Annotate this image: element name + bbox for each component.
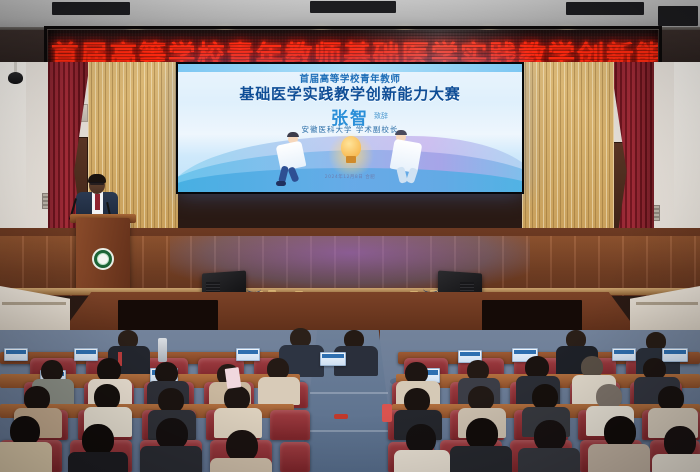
name-placard <box>236 348 260 361</box>
step-nosing <box>2 302 66 305</box>
aisle-marking <box>304 430 396 432</box>
slide-title: 基础医学实践教学创新能力大赛 <box>178 83 522 104</box>
person-body <box>68 452 128 472</box>
security-camera-icon <box>8 72 23 84</box>
name-placard <box>662 348 688 362</box>
person-body <box>258 377 300 405</box>
lightbulb-base <box>346 156 356 163</box>
person-body <box>394 450 450 472</box>
red-item <box>382 404 392 422</box>
aisle-marking <box>310 392 388 394</box>
slide-affiliation: 安徽医科大学 学术副校长 <box>178 124 522 135</box>
water-bottle <box>158 338 167 362</box>
speaker-glasses-icon <box>90 182 104 185</box>
auditorium-photo: 首届高等学校青年教师基础医学实践教学创新能力大赛 <box>0 0 700 472</box>
name-placard <box>320 352 346 366</box>
name-placard <box>4 348 28 361</box>
name-placard <box>74 348 98 361</box>
stage-cable <box>247 285 261 293</box>
apron-panel <box>118 300 218 334</box>
slide-date: 2024年12月8日 合肥 <box>178 174 522 180</box>
person-body <box>210 458 272 472</box>
slide-speaker-role: 致辞 <box>374 111 388 121</box>
red-marker <box>334 414 348 419</box>
seat[interactable] <box>270 410 310 440</box>
presentation-slide: 首届高等学校青年教师 基础医学实践教学创新能力大赛 张智 致辞 安徽医科大学 学… <box>178 64 522 192</box>
paper-sheet <box>225 367 242 389</box>
ceiling-panel <box>52 2 130 15</box>
person-body <box>652 454 700 472</box>
ceiling-panel <box>658 6 698 26</box>
speaker-tie <box>95 194 100 210</box>
person-body <box>518 448 580 472</box>
university-emblem-inner <box>97 253 109 265</box>
ceiling-panel <box>566 2 644 15</box>
doctor-shoe <box>276 181 286 186</box>
person-body <box>450 446 512 472</box>
doctor-coat <box>390 139 423 173</box>
person-body <box>140 446 202 472</box>
apron-panel <box>482 300 582 334</box>
seat[interactable] <box>280 442 310 472</box>
person-body <box>0 442 52 472</box>
lightbulb-icon <box>341 136 361 158</box>
person-body <box>588 444 650 472</box>
ceiling-panel <box>310 1 396 13</box>
step-nosing <box>636 302 698 305</box>
name-placard <box>612 348 636 361</box>
stage-cable <box>423 284 439 293</box>
